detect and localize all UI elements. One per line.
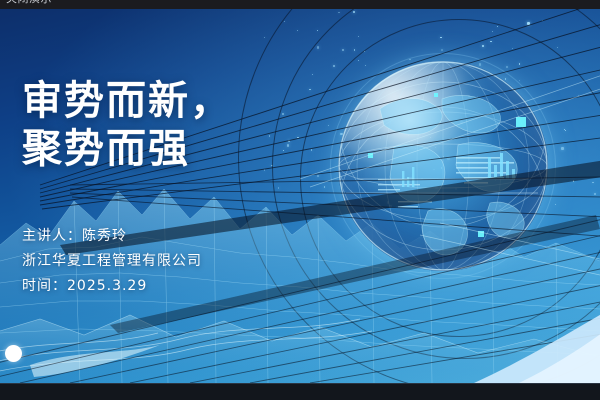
- presentation-bottom-bar[interactable]: [0, 383, 600, 400]
- slide-title-line-2: 聚势而强: [22, 125, 232, 173]
- presentation-window: 关闭演示: [0, 0, 600, 400]
- digital-globe: [338, 61, 548, 271]
- slide-title: 审势而新， 聚势而强: [22, 77, 232, 173]
- slide-date: 时间：2025.3.29: [22, 274, 202, 299]
- star-dot: [264, 37, 265, 38]
- slide-title-line-1: 审势而新，: [22, 77, 232, 125]
- slide-presenter: 主讲人：陈秀玲: [22, 224, 202, 249]
- white-circle: [5, 345, 22, 362]
- presentation-top-bar[interactable]: 关闭演示: [0, 0, 600, 9]
- slide-canvas[interactable]: 审势而新， 聚势而强 主讲人：陈秀玲 浙江华夏工程管理有限公司 时间：2025.…: [0, 9, 600, 383]
- slide-company: 浙江华夏工程管理有限公司: [22, 249, 202, 274]
- presentation-top-bar-label: 关闭演示: [6, 0, 52, 4]
- globe-continents: [338, 61, 548, 271]
- slide-subtitle: 主讲人：陈秀玲 浙江华夏工程管理有限公司 时间：2025.3.29: [22, 224, 202, 299]
